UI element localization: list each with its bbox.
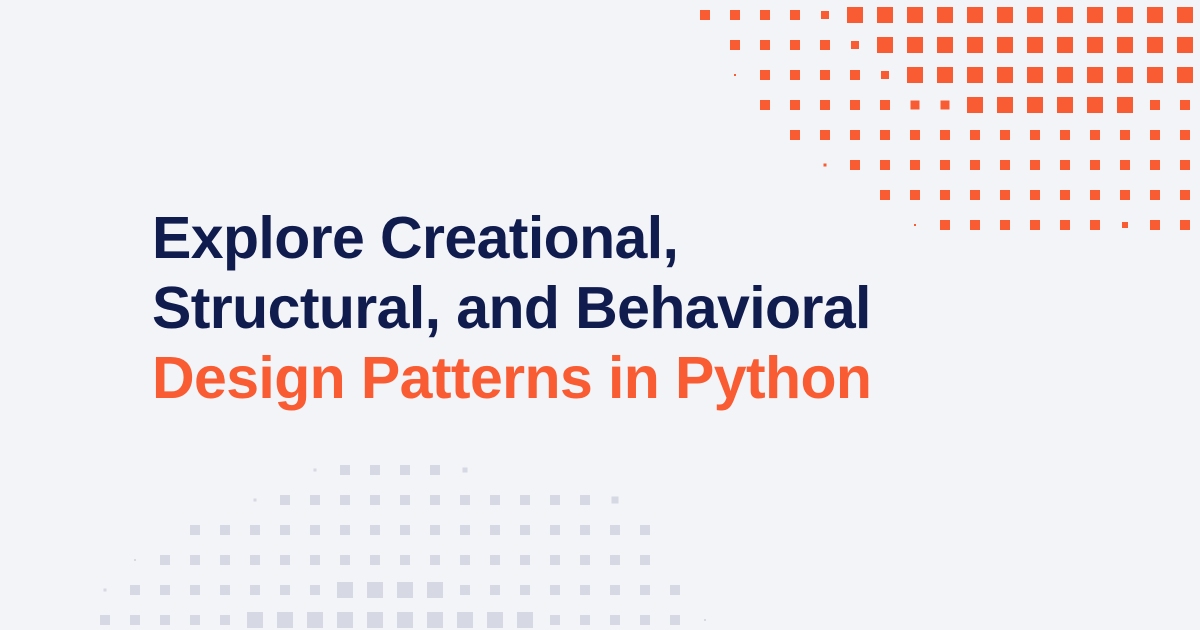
- social-card: Explore Creational, Structural, and Beha…: [0, 0, 1200, 630]
- headline-line-2: Structural, and Behavioral: [152, 273, 1052, 343]
- orange-dot-grid: [690, 0, 1200, 230]
- headline-line-1: Explore Creational,: [152, 203, 1052, 273]
- headline-line-3: Design Patterns in Python: [152, 343, 1052, 413]
- page-title: Explore Creational, Structural, and Beha…: [152, 203, 1052, 413]
- gray-dot-grid: [90, 455, 710, 630]
